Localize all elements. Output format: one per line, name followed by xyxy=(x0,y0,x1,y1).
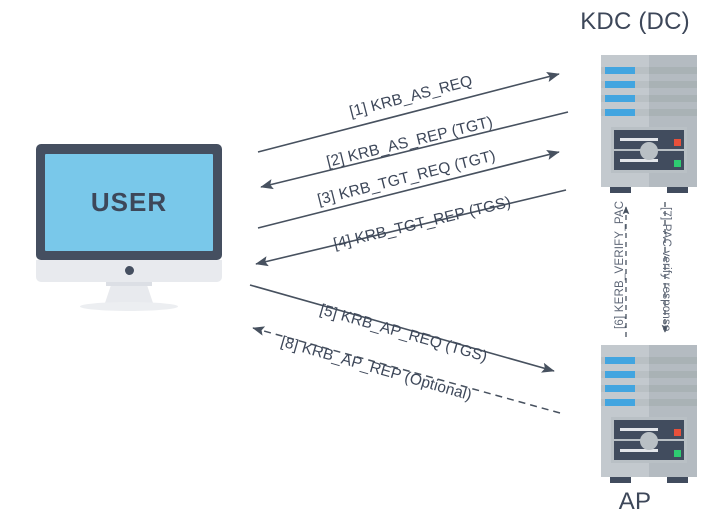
vent-row xyxy=(601,399,697,406)
vent-indicator xyxy=(605,95,635,102)
server-vents xyxy=(601,61,697,117)
monitor-screen: USER xyxy=(45,154,213,251)
vent-row xyxy=(601,95,697,102)
user-node: USER xyxy=(28,138,230,298)
server-drive-bay xyxy=(611,417,687,463)
status-led-green xyxy=(674,450,681,457)
vent-row xyxy=(601,371,697,378)
ap-title: AP xyxy=(560,488,710,516)
server-foot xyxy=(667,187,688,193)
drive-knob xyxy=(640,142,658,160)
server-foot xyxy=(610,477,631,483)
vent-indicator xyxy=(605,81,635,88)
vent-row xyxy=(601,385,697,392)
monitor-power-dot xyxy=(125,266,134,275)
msg-label-6: [6] KERB_VERIFY_PAC xyxy=(614,201,626,329)
server-vents xyxy=(601,351,697,407)
vent-indicator xyxy=(605,371,635,378)
drive-line xyxy=(620,449,658,452)
drive-line xyxy=(620,428,658,431)
vent-row xyxy=(601,67,697,74)
kdc-server-node xyxy=(601,55,697,195)
server-foot xyxy=(667,477,688,483)
vent-indicator xyxy=(605,399,635,406)
vent-indicator xyxy=(605,357,635,364)
server-drive-bay xyxy=(611,127,687,173)
vent-row xyxy=(601,109,697,116)
status-led-red xyxy=(674,429,681,436)
server-foot xyxy=(610,187,631,193)
vent-indicator xyxy=(605,385,635,392)
status-led-red xyxy=(674,139,681,146)
arrow-msg-3 xyxy=(258,152,559,228)
msg-label-7: [7] PAC verify response xyxy=(660,207,672,332)
vent-indicator xyxy=(605,109,635,116)
vent-indicator xyxy=(605,67,635,74)
drive-knob xyxy=(640,432,658,450)
user-screen-label: USER xyxy=(91,187,167,218)
kerberos-flow-diagram: USER KDC (DC) xyxy=(0,0,715,528)
drive-line xyxy=(620,159,658,162)
monitor-shadow xyxy=(80,302,178,311)
ap-server-node xyxy=(601,345,697,485)
drive-line xyxy=(620,138,658,141)
kdc-title: KDC (DC) xyxy=(560,8,710,36)
vent-row xyxy=(601,357,697,364)
status-led-green xyxy=(674,160,681,167)
vent-row xyxy=(601,81,697,88)
monitor-stand-neck xyxy=(106,282,152,286)
